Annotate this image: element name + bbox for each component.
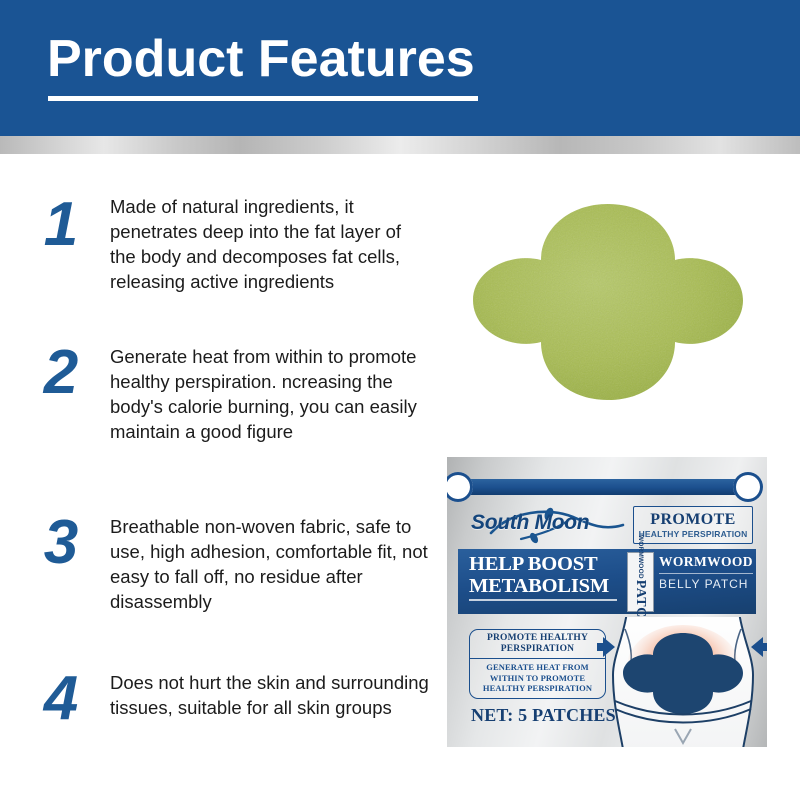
headline-line-1: HELP BOOST [469,553,619,575]
headline-underline [469,599,617,601]
belly-patch-illustration-icon [597,617,767,747]
pressure-arrow-right-icon [751,637,767,657]
side-label-wormwood: WORMWOOD [659,554,755,570]
page-title: Product Features [47,33,475,85]
feature-number-1: 1 [30,196,92,253]
feature-text-4: Does not hurt the skin and surrounding t… [110,670,430,720]
package-headline: HELP BOOST METABOLISM [469,553,619,601]
wormwood-patch-vertical-badge: WORMWOOD PATCH [627,552,654,612]
wormwood-patch-vertical-inner: WORMWOOD PATCH [628,553,653,611]
patch-product-photo [443,182,773,422]
side-label-divider [659,573,753,574]
package-info-box: PROMOTE HEALTHY PERSPIRATION GENERATE HE… [469,629,606,699]
silver-divider-band [0,136,800,154]
quatrefoil-patch-icon [443,182,773,422]
title-underline [48,96,478,101]
package-top-strip [458,479,756,495]
feature-number-2: 2 [30,344,92,401]
package-brand-row: South Moon PROMOTE HEALTHY PERSPIRATION [465,499,753,547]
brand-name: South Moon [471,511,589,535]
header-band: Product Features [0,0,800,136]
promote-badge-main: PROMOTE [634,511,752,529]
promote-badge-sub: HEALTHY PERSPIRATION [634,529,752,539]
info-box-heading: PROMOTE HEALTHY PERSPIRATION [470,630,605,659]
promote-badge: PROMOTE HEALTHY PERSPIRATION [633,506,753,544]
feature-number-4: 4 [30,670,92,727]
tear-notch-right-icon [733,472,763,502]
side-label-belly-patch: BELLY PATCH [659,577,755,591]
feature-number-3: 3 [30,514,92,571]
feature-text-1: Made of natural ingredients, it penetrat… [110,194,430,294]
feature-text-3: Breathable non-woven fabric, safe to use… [110,514,430,614]
pressure-arrow-left-icon [597,637,615,657]
feature-text-2: Generate heat from within to promote hea… [110,344,430,444]
vertical-label-wormwood: WORMWOOD [637,535,644,579]
info-box-body: GENERATE HEAT FROM WITHIN TO PROMOTE HEA… [470,659,605,698]
headline-line-2: METABOLISM [469,575,619,597]
net-quantity-label: NET: 5 PATCHES [471,705,616,726]
product-features-infographic: Product Features 1 Made of natural ingre… [0,0,800,800]
product-package-photo: South Moon PROMOTE HEALTHY PERSPIRATION … [447,457,767,747]
package-side-labels: WORMWOOD BELLY PATCH [659,554,755,591]
